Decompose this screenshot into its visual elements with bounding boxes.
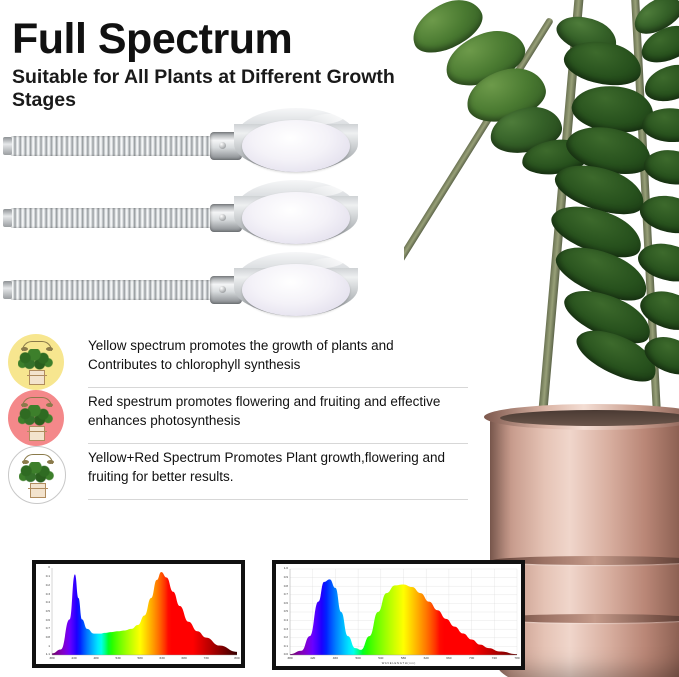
y-tick-label: 0.4	[276, 619, 288, 622]
spectrum-curve	[276, 564, 521, 666]
feature-icon-badge	[8, 446, 66, 504]
lamp-gooseneck	[10, 280, 216, 300]
x-tick-label: 500	[350, 657, 366, 660]
feature-row: Yellow+Red Spectrum Promotes Plant growt…	[4, 444, 474, 500]
page-subtitle: Suitable for All Plants at Different Gro…	[12, 66, 412, 111]
pot-lip-inner	[500, 410, 679, 426]
lamp-head	[234, 252, 358, 328]
y-tick-label: 0.9	[276, 576, 288, 579]
x-tick-label: 430	[66, 657, 82, 660]
x-axis-caption: W A V E L E N G T H ( n m )	[276, 662, 521, 665]
spectrum-chart-right: 1.00.90.80.70.60.50.40.30.20.10.0 380420…	[272, 560, 525, 670]
x-tick-label: 420	[305, 657, 321, 660]
x-tick-label: 460	[327, 657, 343, 660]
x-tick-label: 380	[44, 657, 60, 660]
x-tick-label: 630	[154, 657, 170, 660]
feature-row: Red spestrum promotes flowering and frui…	[4, 388, 474, 444]
pot-glyph	[29, 426, 45, 441]
x-tick-label: 730	[198, 657, 214, 660]
foliage-glyph	[18, 349, 54, 371]
y-tick-label: 0.6	[276, 602, 288, 605]
y-tick-label: 0.2	[276, 636, 288, 639]
lamp-head	[234, 180, 358, 256]
y-tick-label: 0.6	[36, 619, 50, 622]
foliage-glyph	[19, 462, 55, 484]
plant-under-lamp-icon	[15, 340, 57, 384]
x-tick-label: 680	[176, 657, 192, 660]
plant-under-lamp-icon	[16, 453, 58, 497]
chart-plot-area: 1.00.90.80.70.60.50.40.30.20.10.0 380420…	[276, 564, 521, 666]
x-tick-label: 700	[464, 657, 480, 660]
pot-glyph	[30, 483, 46, 498]
page-title: Full Spectrum	[12, 18, 292, 61]
y-tick-label: 0.2	[36, 584, 50, 587]
pot-glyph	[29, 370, 45, 385]
feature-icon-badge	[8, 334, 64, 390]
y-tick-label: 0.3	[276, 628, 288, 631]
chart-plot-area: 00.10.20.30.40.50.60.70.811.1 3804304805…	[36, 564, 241, 664]
lamp-light-panel	[242, 192, 350, 244]
feature-text: Red spestrum promotes flowering and frui…	[88, 392, 464, 430]
lamp-gooseneck	[10, 136, 216, 156]
x-tick-label: 480	[88, 657, 104, 660]
y-tick-label: 0.5	[276, 610, 288, 613]
y-tick-label: 0.1	[276, 645, 288, 648]
y-tick-label: 0.8	[276, 585, 288, 588]
x-tick-label: 800	[229, 657, 241, 660]
spectrum-chart-left: 00.10.20.30.40.50.60.70.811.1 3804304805…	[32, 560, 245, 668]
y-tick-label: 1.0	[276, 567, 288, 570]
y-tick-label: 0.7	[276, 593, 288, 596]
x-tick-label: 380	[282, 657, 298, 660]
y-tick-label: 0.1	[36, 575, 50, 578]
y-tick-label: 0	[36, 566, 50, 569]
feature-text: Yellow spectrum promotes the growth of p…	[88, 336, 464, 374]
lamp-gooseneck	[10, 208, 216, 228]
x-tick-label: 740	[486, 657, 502, 660]
lamp-head	[234, 108, 358, 184]
lamp-light-panel	[242, 120, 350, 172]
y-tick-label: 0.5	[36, 610, 50, 613]
x-tick-label: 540	[373, 657, 389, 660]
feature-list: Yellow spectrum promotes the growth of p…	[4, 332, 474, 500]
y-tick-label: 0.7	[36, 627, 50, 630]
x-tick-label: 660	[441, 657, 457, 660]
feature-text: Yellow+Red Spectrum Promotes Plant growt…	[88, 448, 464, 486]
x-tick-label: 780	[509, 657, 521, 660]
foliage-glyph	[18, 405, 54, 427]
x-tick-label: 530	[110, 657, 126, 660]
feature-row: Yellow spectrum promotes the growth of p…	[4, 332, 474, 388]
lamp-light-panel	[242, 264, 350, 316]
feature-divider	[88, 499, 468, 500]
y-tick-label: 0.8	[36, 636, 50, 639]
spectrum-curve	[36, 564, 241, 664]
x-tick-label: 580	[396, 657, 412, 660]
y-tick-label: 1	[36, 645, 50, 648]
x-tick-label: 620	[418, 657, 434, 660]
plant-under-lamp-icon	[15, 396, 57, 440]
feature-icon-badge	[8, 390, 64, 446]
y-tick-label: 0.3	[36, 593, 50, 596]
x-tick-label: 580	[132, 657, 148, 660]
infographic-canvas: Full Spectrum Suitable for All Plants at…	[0, 0, 679, 677]
y-tick-label: 0.4	[36, 601, 50, 604]
